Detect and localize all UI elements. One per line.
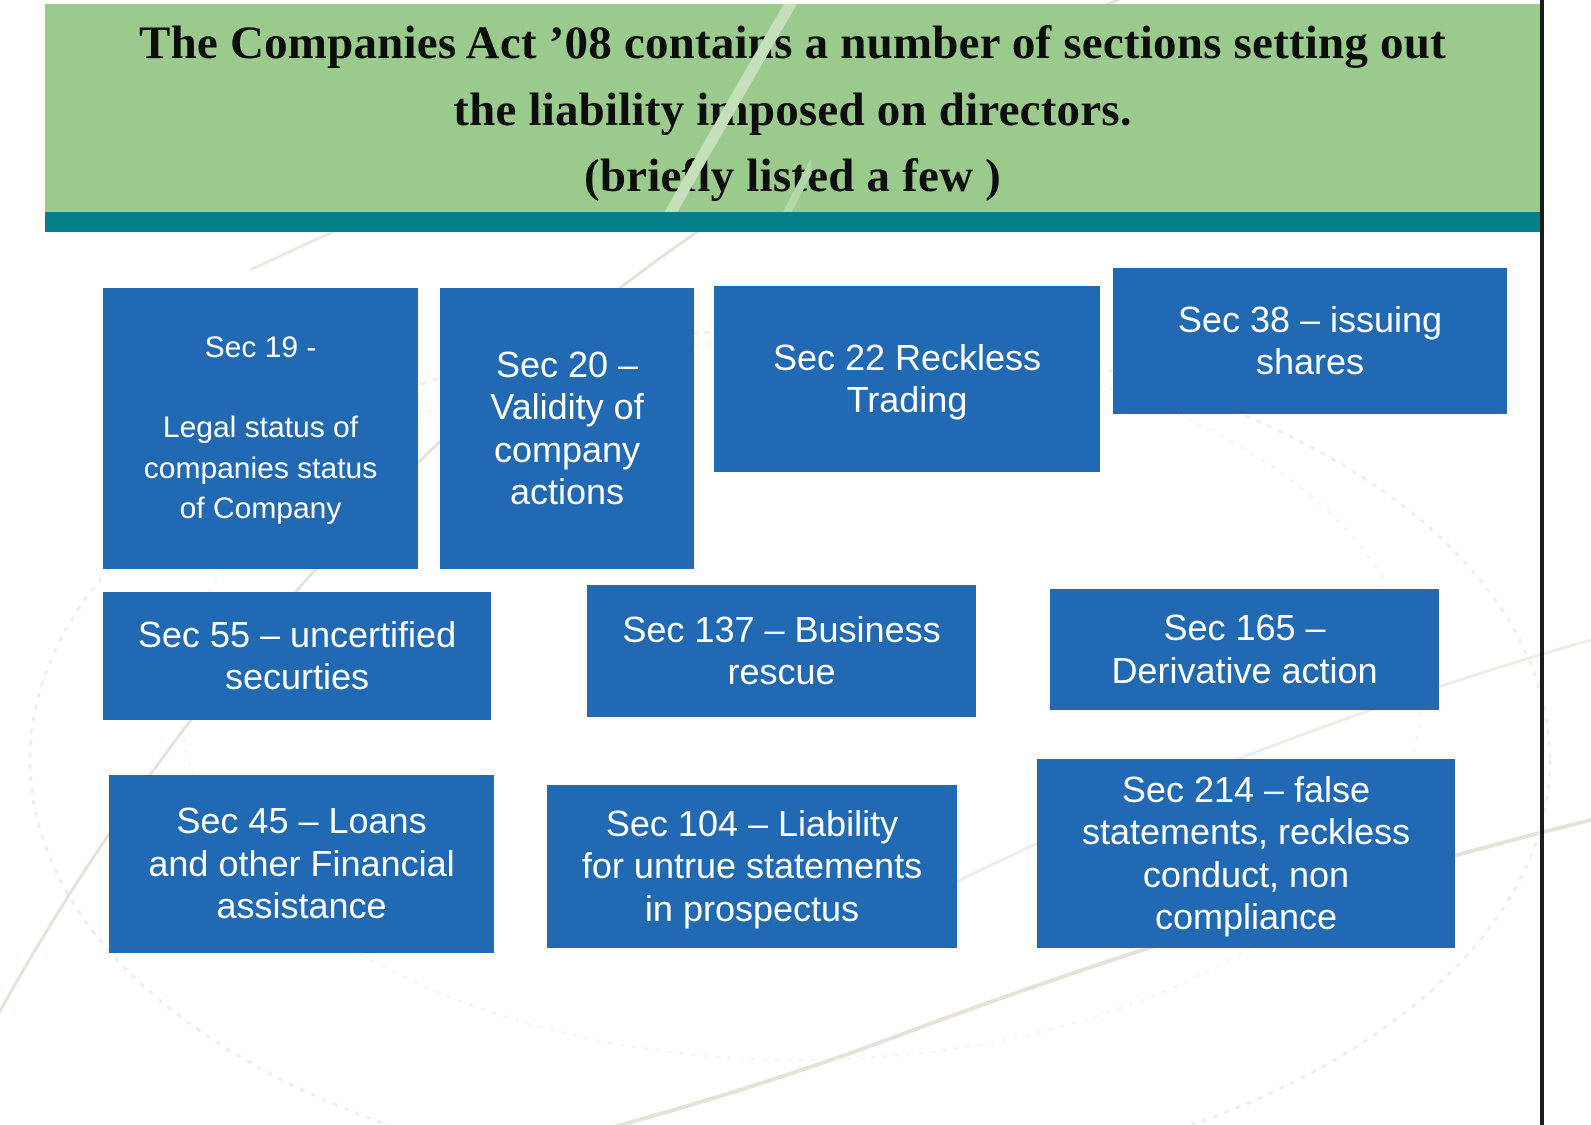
slide-edge-rule <box>1540 0 1544 1125</box>
section-box-sec-137[interactable]: Sec 137 – Business rescue <box>587 585 976 717</box>
section-box-sec-165[interactable]: Sec 165 – Derivative action <box>1050 589 1439 710</box>
section-box-sec-45[interactable]: Sec 45 – Loans and other Financial assis… <box>109 775 494 953</box>
section-box-label: Sec 45 – Loans and other Financial assis… <box>148 800 454 927</box>
slide-canvas: The Companies Act ’08 contains a number … <box>0 0 1591 1125</box>
section-box-label: Sec 55 – uncertified securties <box>138 614 456 699</box>
section-box-sec-20[interactable]: Sec 20 – Validity of company actions <box>440 288 694 569</box>
section-box-sec-104[interactable]: Sec 104 – Liability for untrue statement… <box>547 785 957 948</box>
section-box-label: Sec 214 – false statements, reckless con… <box>1082 769 1410 939</box>
section-box-label: Sec 104 – Liability for untrue statement… <box>582 803 922 930</box>
title-underbar <box>45 212 1540 232</box>
section-box-sec-22[interactable]: Sec 22 Reckless Trading <box>714 286 1100 472</box>
section-box-label: Sec 22 Reckless Trading <box>773 337 1041 422</box>
section-box-sec-55[interactable]: Sec 55 – uncertified securties <box>103 592 491 720</box>
section-box-sec-38[interactable]: Sec 38 – issuing shares <box>1113 268 1507 414</box>
section-box-label: Sec 19 - Legal status of companies statu… <box>144 328 377 529</box>
section-box-sec-19[interactable]: Sec 19 - Legal status of companies statu… <box>103 288 418 569</box>
page-title: The Companies Act ’08 contains a number … <box>128 4 1458 210</box>
section-box-label: Sec 20 – Validity of company actions <box>490 344 643 514</box>
title-line-3: (briefly listed a few ) <box>128 143 1458 210</box>
section-box-label: Sec 137 – Business rescue <box>622 609 940 694</box>
section-box-label: Sec 165 – Derivative action <box>1111 607 1377 692</box>
title-line-1: The Companies Act ’08 contains a number … <box>139 17 1222 69</box>
title-banner: The Companies Act ’08 contains a number … <box>45 4 1540 212</box>
section-box-sec-214[interactable]: Sec 214 – false statements, reckless con… <box>1037 759 1455 948</box>
section-box-label: Sec 38 – issuing shares <box>1178 299 1442 384</box>
